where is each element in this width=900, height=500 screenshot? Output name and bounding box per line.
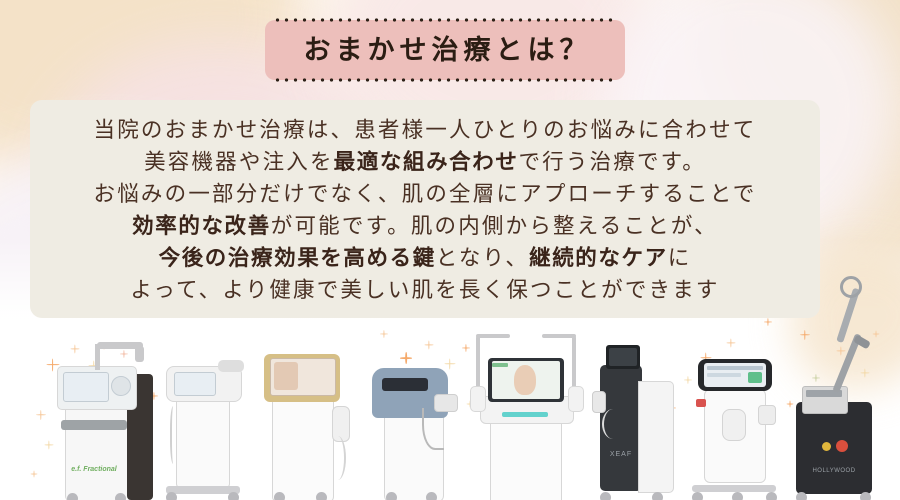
device-dark-cabinet: XEAF bbox=[580, 335, 680, 500]
device-screen-row bbox=[707, 373, 741, 377]
banner-dotted-border-bottom bbox=[273, 78, 617, 82]
device-column bbox=[490, 416, 562, 500]
device-caster bbox=[426, 492, 437, 500]
normal-text: となり、 bbox=[436, 246, 529, 270]
device-dial-knob bbox=[111, 376, 131, 396]
device-control-screen bbox=[174, 372, 216, 396]
device-handpiece bbox=[758, 405, 776, 425]
device-face-graphic bbox=[514, 365, 536, 395]
device-screen-accent bbox=[748, 372, 762, 383]
device-column bbox=[272, 394, 334, 500]
device-monitor-screen bbox=[609, 348, 637, 366]
device-display-strip bbox=[382, 378, 428, 391]
title-banner: おまかせ治療とは？ bbox=[265, 20, 625, 80]
device-caster bbox=[652, 492, 663, 500]
emphasis-text: 今後の治療効果を高める鍵 bbox=[159, 246, 436, 270]
device-cable bbox=[170, 406, 178, 464]
device-brand-label: XEAF bbox=[606, 451, 636, 458]
body-line: 効率的な改善が可能です。肌の内側から整えることが、 bbox=[30, 210, 820, 242]
device-accent-light bbox=[502, 412, 548, 417]
content-panel: 当院のおまかせ治療は、患者様一人ひとりのお悩みに合わせて美容機器や注入を最適な組… bbox=[30, 100, 820, 318]
device-screen-row bbox=[707, 366, 763, 370]
page-title: おまかせ治療とは？ bbox=[299, 37, 592, 64]
normal-text: 当院のおまかせ治療は、患者様一人ひとりのお悩みに合わせて bbox=[94, 118, 757, 142]
emphasis-text: 最適な組み合わせ bbox=[334, 150, 519, 174]
device-emergency-button bbox=[836, 440, 848, 452]
device-handle-bar bbox=[61, 420, 127, 430]
device-black-laser-arm: HOLLYWOOD bbox=[782, 290, 892, 500]
device-status-light bbox=[822, 442, 831, 451]
device-caster bbox=[860, 492, 871, 500]
banner-dotted-border-top bbox=[273, 18, 617, 22]
device-caster bbox=[692, 492, 703, 500]
device-caster bbox=[600, 492, 611, 500]
device-handpiece-left bbox=[470, 386, 486, 412]
emphasis-text: 効率的な改善 bbox=[132, 214, 271, 238]
device-white-tower bbox=[160, 350, 255, 500]
normal-text: で行う治療です。 bbox=[518, 150, 705, 174]
body-paragraph: 当院のおまかせ治療は、患者様一人ひとりのお悩みに合わせて美容機器や注入を最適な組… bbox=[30, 114, 820, 306]
body-line: よって、より健康で美しい肌を長く保つことができます bbox=[30, 274, 820, 306]
device-face-photo bbox=[274, 362, 298, 390]
device-caster bbox=[166, 492, 177, 500]
device-arm-loop bbox=[840, 276, 862, 298]
device-handpiece-holder bbox=[722, 409, 746, 441]
device-column bbox=[176, 390, 230, 488]
device-base bbox=[692, 485, 776, 492]
device-caster bbox=[732, 492, 743, 500]
body-line: 今後の治療効果を高める鍵となり、継続的なケアに bbox=[30, 242, 820, 274]
device-arm-right-top bbox=[542, 334, 576, 338]
device-power-indicator bbox=[696, 399, 706, 407]
device-lineup: e.f. Fractional bbox=[0, 315, 900, 500]
emphasis-text: 継続的なケア bbox=[529, 246, 668, 270]
device-caster bbox=[274, 492, 285, 500]
device-caster bbox=[386, 492, 397, 500]
normal-text: 美容機器や注入を bbox=[144, 150, 334, 174]
device-control-screen bbox=[63, 372, 109, 402]
device-cable bbox=[330, 436, 346, 480]
device-cable bbox=[602, 409, 624, 439]
device-arm-joint bbox=[135, 346, 144, 362]
device-gold-trim-screen bbox=[258, 340, 358, 500]
device-white-side bbox=[638, 381, 674, 493]
device-brand-label: HOLLYWOOD bbox=[806, 468, 862, 474]
normal-text: に bbox=[668, 246, 692, 270]
normal-text: お悩みの一部分だけでなく、肌の全層にアプローチすることで bbox=[94, 182, 757, 206]
normal-text: が可能です。肌の内側から整えることが、 bbox=[271, 214, 718, 238]
normal-text: よって、より健康で美しい肌を長く保つことができます bbox=[130, 278, 719, 302]
body-line: お悩みの一部分だけでなく、肌の全層にアプローチすることで bbox=[30, 178, 820, 210]
device-dark-body bbox=[796, 402, 872, 494]
device-caster bbox=[796, 492, 807, 500]
device-fractional-laser: e.f. Fractional bbox=[55, 340, 175, 500]
device-screen-header bbox=[492, 363, 508, 367]
device-face-analysis bbox=[462, 330, 592, 500]
body-line: 美容機器や注入を最適な組み合わせで行う治療です。 bbox=[30, 146, 820, 178]
banner-image: おまかせ治療とは？ 当院のおまかせ治療は、患者様一人ひとりのお悩みに合わせて美容… bbox=[0, 0, 900, 500]
body-line: 当院のおまかせ治療は、患者様一人ひとりのお悩みに合わせて bbox=[30, 114, 820, 146]
device-caster bbox=[316, 492, 327, 500]
device-caster bbox=[228, 492, 239, 500]
device-brand-label: e.f. Fractional bbox=[67, 466, 121, 473]
device-caster bbox=[766, 492, 777, 500]
device-top-handle bbox=[218, 360, 244, 372]
device-white-cart bbox=[688, 345, 788, 500]
device-caster bbox=[67, 493, 78, 500]
device-handpiece bbox=[592, 391, 606, 413]
device-caster bbox=[115, 493, 126, 500]
device-arm-left-top bbox=[476, 334, 510, 338]
device-blue-top bbox=[368, 350, 468, 500]
